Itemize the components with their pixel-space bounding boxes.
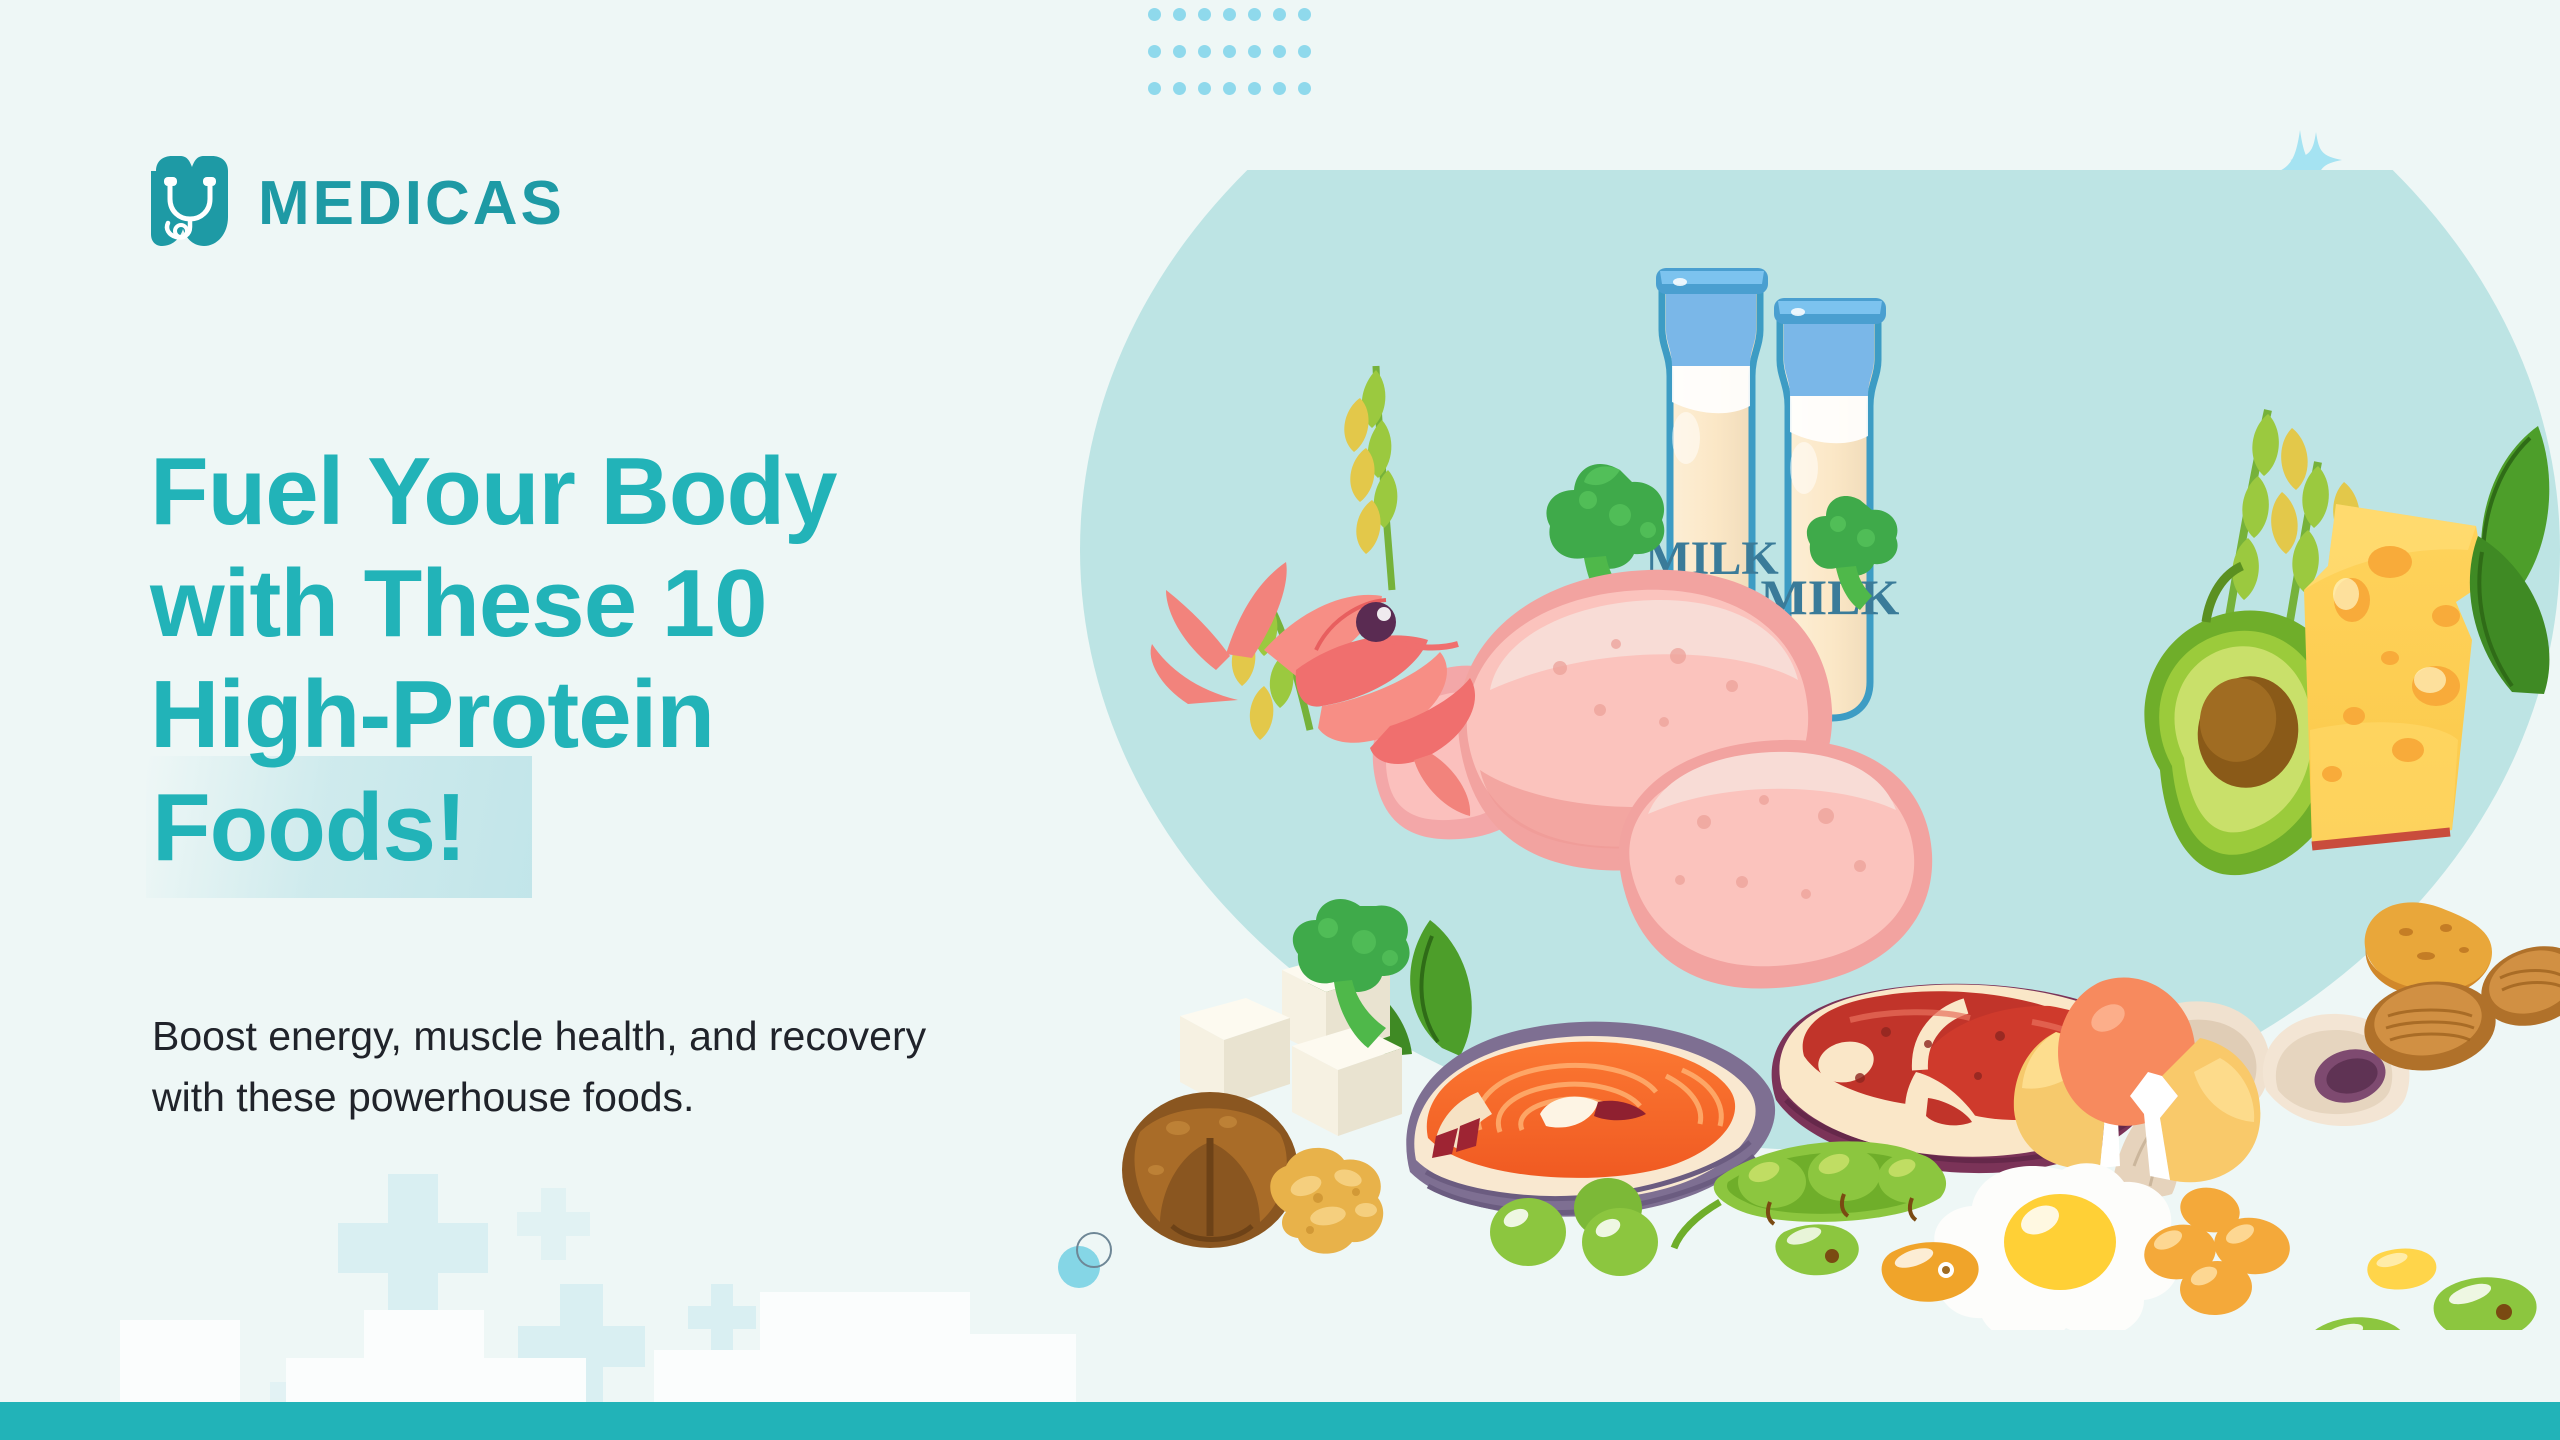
walnut-kernel <box>1270 1148 1383 1254</box>
medical-cross-icon <box>517 1188 590 1260</box>
high-protein-foods-illustration: MILK MILK <box>1060 170 2560 1330</box>
headline-line-1: Fuel Your Body <box>150 438 837 545</box>
page-title: Fuel Your Body with These 10 High-Protei… <box>150 436 1070 889</box>
dot <box>1248 8 1261 21</box>
dot <box>1148 82 1161 95</box>
dot <box>1298 82 1311 95</box>
cross-bar-v <box>711 1284 734 1351</box>
dot <box>1223 82 1236 95</box>
dot <box>1273 82 1286 95</box>
walnut <box>1122 1092 1298 1248</box>
ghost-rect <box>286 1358 586 1402</box>
dot <box>1198 82 1211 95</box>
brand-logo[interactable]: MEDICAS <box>150 155 565 252</box>
stethoscope-m-logo-icon <box>150 155 234 252</box>
cross-bar-v <box>541 1188 565 1260</box>
dot <box>1173 45 1186 58</box>
dot <box>1223 45 1236 58</box>
headline-line-3: High-Protein <box>150 661 714 768</box>
fried-egg <box>1934 1163 2178 1330</box>
ghost-rect <box>120 1320 240 1402</box>
dot <box>1148 45 1161 58</box>
ghost-rect <box>936 1334 1076 1402</box>
dot <box>1273 8 1286 21</box>
dot-grid-pattern <box>1148 8 1323 119</box>
dot <box>1248 82 1261 95</box>
brand-name: MEDICAS <box>258 173 565 235</box>
medical-cross-icon <box>338 1174 488 1322</box>
cross-bar-v <box>388 1174 438 1322</box>
poster-canvas: MEDICAS Fuel Your Body with These 10 Hig… <box>0 0 2560 1440</box>
dot <box>1148 8 1161 21</box>
footer-bar <box>0 1402 2560 1440</box>
chicken-breast-front <box>1619 740 1932 989</box>
dot <box>1198 45 1211 58</box>
medical-cross-icon <box>688 1284 756 1351</box>
page-subtitle: Boost energy, muscle health, and recover… <box>152 1006 952 1127</box>
headline-line-2: with These 10 <box>150 550 767 657</box>
dot <box>1223 8 1236 21</box>
dot <box>1298 8 1311 21</box>
dot <box>1173 82 1186 95</box>
dot <box>1248 45 1261 58</box>
dot <box>1198 8 1211 21</box>
dot <box>1298 45 1311 58</box>
dot <box>1173 8 1186 21</box>
dot <box>1273 45 1286 58</box>
headline-highlight: Foods! <box>150 770 476 889</box>
